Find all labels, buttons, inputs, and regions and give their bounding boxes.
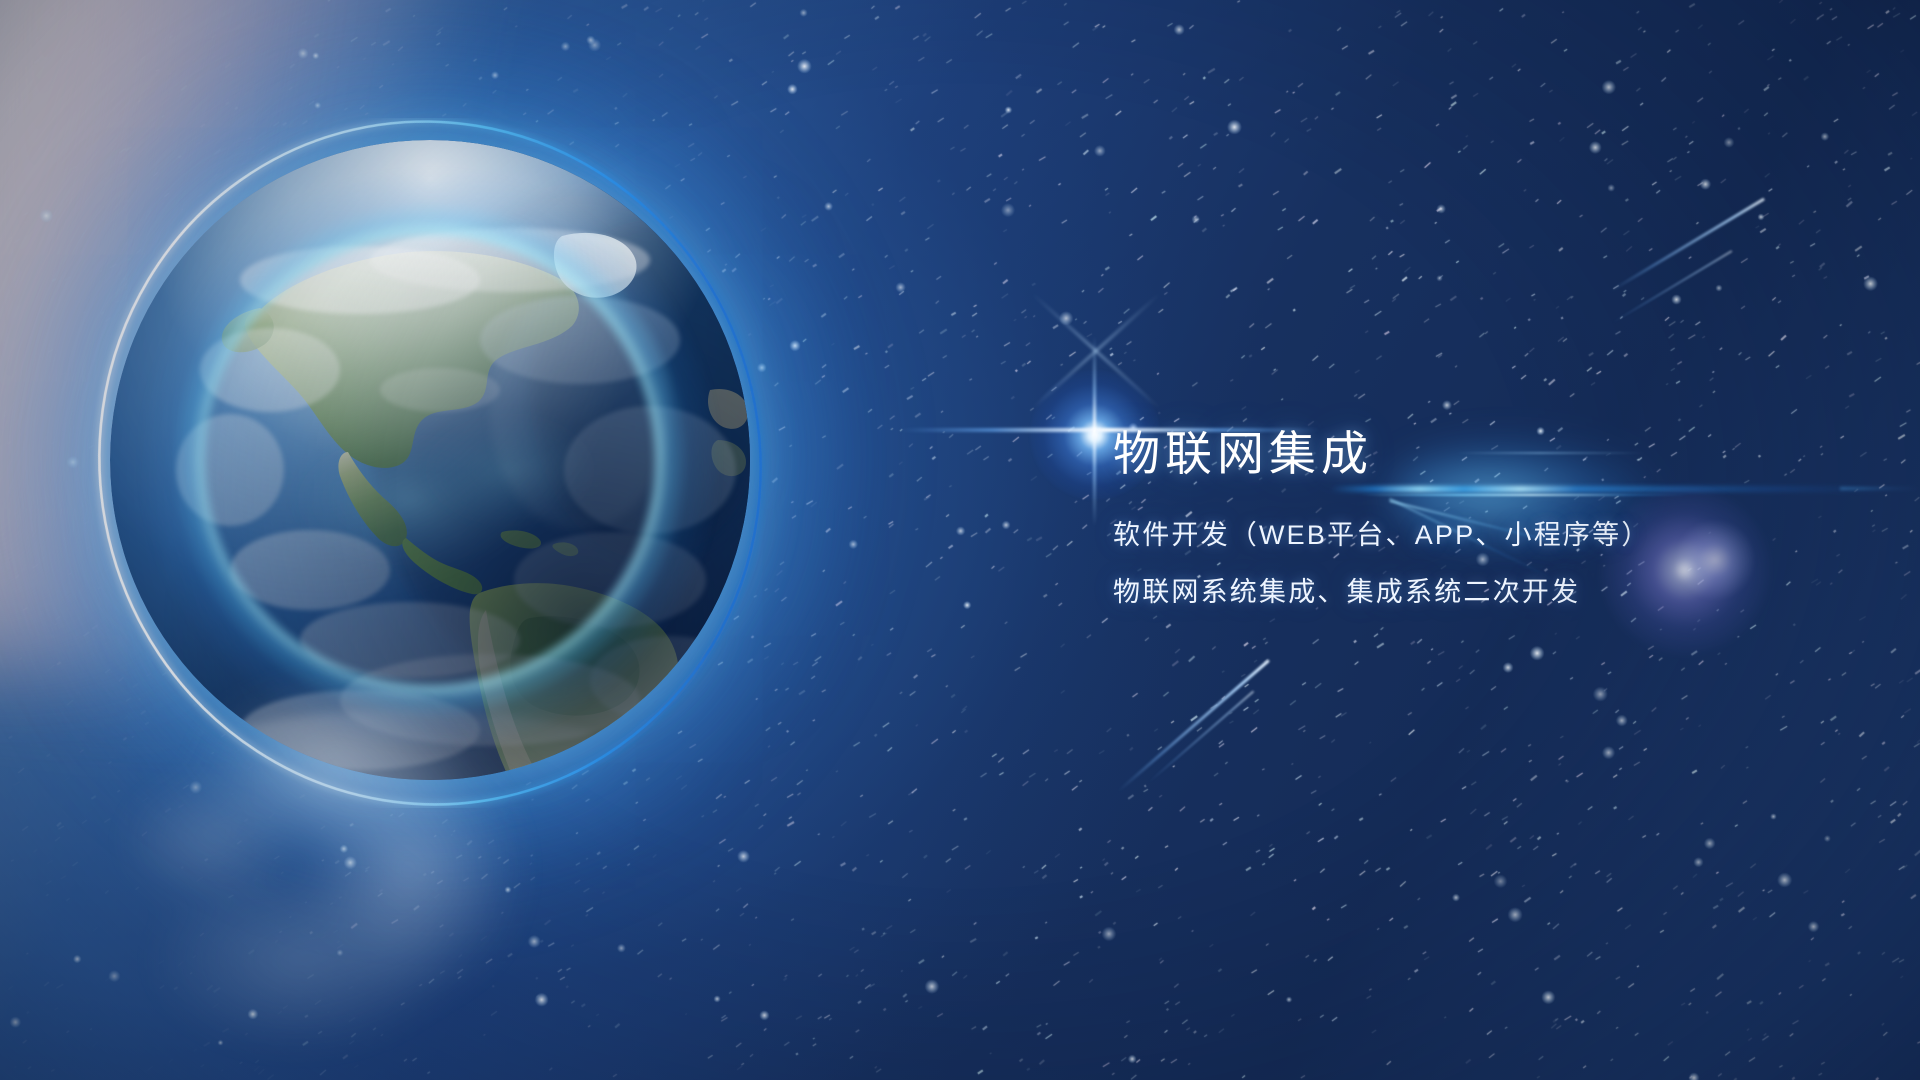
vignette-overlay [0, 0, 1920, 1080]
hero-banner: 物联网集成 软件开发（WEB平台、APP、小程序等） 物联网系统集成、集成系统二… [0, 0, 1920, 1080]
